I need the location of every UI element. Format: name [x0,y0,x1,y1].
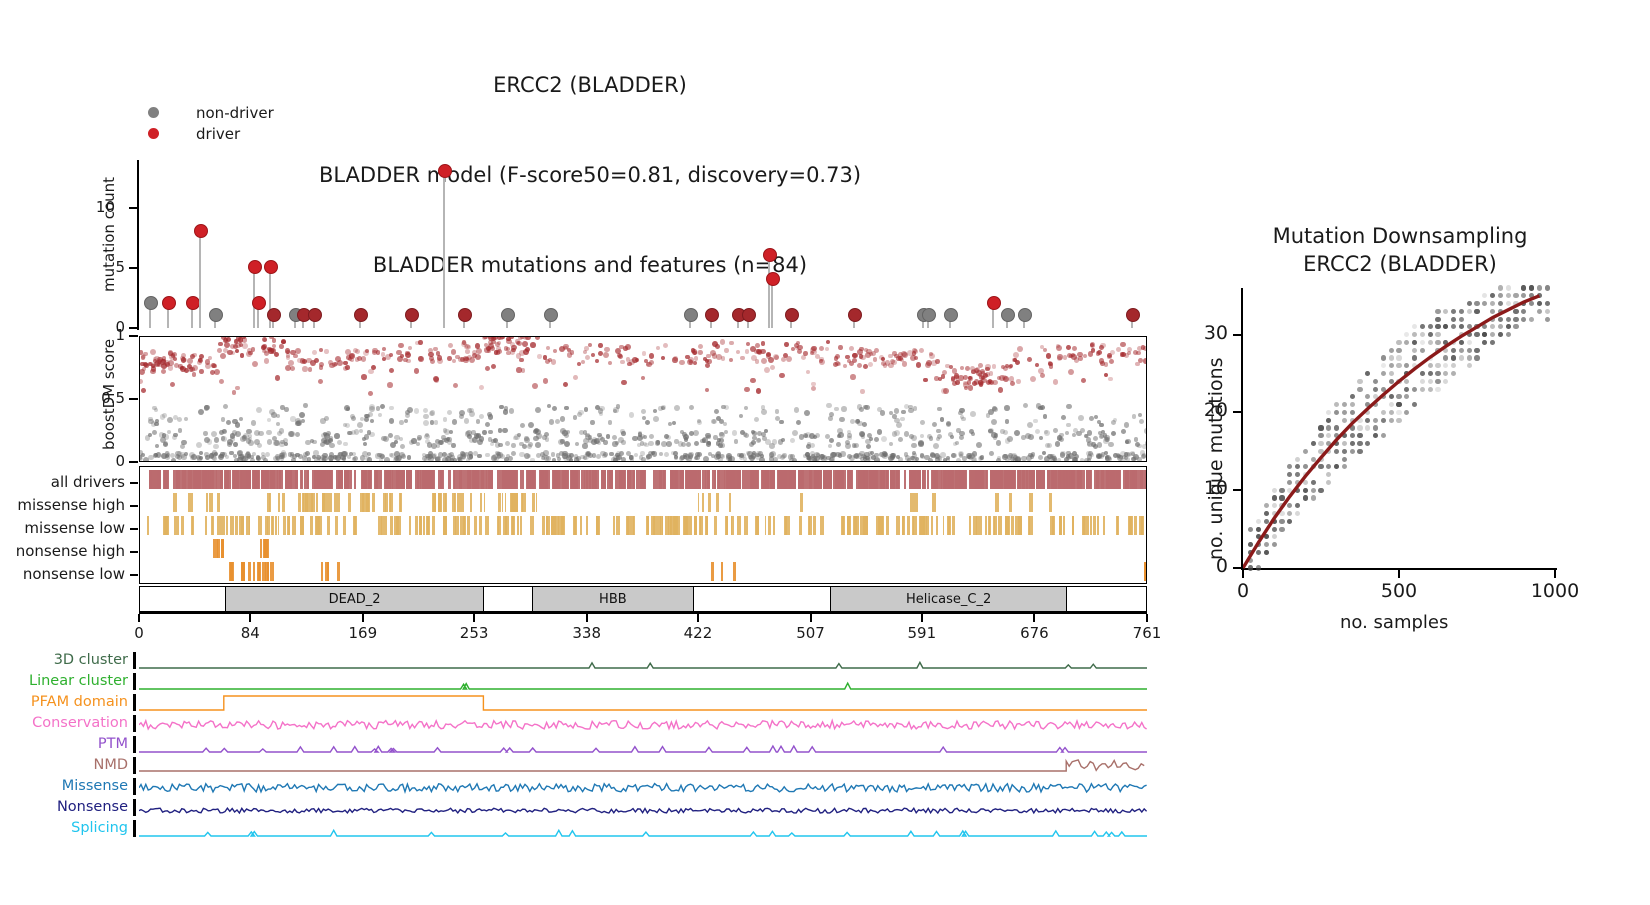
track-mark [840,470,842,489]
score-point [1021,456,1026,461]
track-mark [419,516,421,535]
score-point [364,434,369,439]
score-point [880,410,885,415]
track-mark [866,470,869,489]
track-mark [976,470,978,489]
track-mark [321,562,323,581]
score-point [1124,422,1129,427]
score-point [208,356,212,360]
track-mark [732,470,735,489]
score-point [852,353,858,359]
track-mark [1000,470,1005,489]
score-point [488,430,493,435]
score-point [1100,343,1106,349]
track-mark [378,470,382,489]
track-mark [551,516,555,535]
track-mark [153,470,158,489]
x-tick-mark [362,614,364,622]
track-mark [474,516,477,535]
track-mark [773,516,775,535]
track-mark [820,516,824,535]
score-point [918,441,923,446]
track-mark [675,470,677,489]
score-point [574,457,580,462]
track-mark [1096,470,1098,489]
score-point [1093,444,1098,449]
legend-label: driver [196,125,240,143]
score-point [1042,451,1046,455]
score-point [666,435,671,440]
score-point [894,430,900,436]
score-point [258,431,263,436]
track-mark [473,470,478,489]
score-point [469,357,475,363]
track-mark [336,470,340,489]
score-point [1090,343,1094,347]
x-tick-mark [249,614,251,622]
score-point [361,374,366,379]
score-point [644,443,649,448]
score-point [280,440,284,444]
score-point [705,363,710,368]
score-point [745,349,749,353]
feature-track-line [139,830,1147,836]
feature-track-row [139,650,1147,671]
score-point [192,372,197,377]
track-mark [571,470,574,489]
score-point [502,428,507,433]
score-point [941,374,945,378]
score-point [1023,403,1029,409]
needle-marker [264,260,278,274]
score-point [551,359,557,365]
score-point [178,428,182,432]
track-mark [392,470,397,489]
track-mark [343,516,346,535]
needle-marker [354,308,368,322]
score-point [762,436,767,441]
score-point [934,376,939,381]
score-point [874,457,880,462]
score-point [909,434,914,439]
feature-track-row [139,818,1147,839]
score-point [1009,364,1013,368]
score-point [324,416,329,421]
track-mark [714,516,716,535]
score-point [728,457,732,461]
needle-plot [139,160,1147,328]
pfam-domain-box: DEAD_2 [225,587,485,611]
track-tick-mark [130,482,138,484]
track-mark [267,539,269,558]
track-mark [1059,516,1062,535]
feature-track-label: Linear cluster [0,673,128,689]
score-point [1087,454,1093,460]
score-point [659,452,664,457]
score-point [720,443,724,447]
score-point [1038,406,1042,410]
score-point [714,409,719,414]
track-mark [742,470,746,489]
needle-marker [144,296,158,310]
score-point [451,349,456,354]
track-mark [415,516,418,535]
score-point [652,451,657,456]
score-point [508,456,513,461]
track-mark [262,562,266,581]
score-point [525,347,530,352]
score-point [860,457,864,461]
score-point [430,359,435,364]
score-point [1035,363,1039,367]
score-point [408,346,412,350]
score-point [459,414,464,419]
score-point [901,351,907,357]
score-point [920,420,925,425]
score-point [267,418,271,422]
score-point [641,409,646,414]
score-point [857,363,862,368]
score-point [894,408,900,414]
score-point [985,367,990,372]
track-mark [630,516,634,535]
score-point [575,442,579,446]
needle-marker [742,308,756,322]
score-point [150,349,156,355]
downsampling-y-tick-label: 0 [1180,555,1228,577]
track-mark [1106,470,1110,489]
score-point [850,374,855,379]
score-point [416,442,420,446]
track-mark [454,470,457,489]
score-point [424,457,429,462]
feature-track-tick [133,799,136,816]
score-point [996,440,1001,445]
score-point [685,355,690,360]
score-point [207,439,213,445]
track-mark [1145,562,1147,581]
score-point [591,353,595,357]
score-point [430,420,434,424]
feature-track-line [139,696,1147,710]
score-point [862,422,867,427]
track-mark [253,562,255,581]
x-tick-label: 169 [338,624,388,642]
track-mark [756,516,759,535]
track-mark [1103,516,1105,535]
score-point [889,442,893,446]
score-point [865,352,871,358]
needle-marker [248,260,262,274]
track-mark [926,516,929,535]
track-mark [726,516,728,535]
feature-track-row [139,797,1147,818]
score-point [1096,351,1101,356]
needle-stem [199,232,201,328]
pfam-domain-box: Helicase_C_2 [830,587,1067,611]
score-point [295,348,301,354]
score-point [820,454,825,459]
downsampling-x-tick-mark [1242,570,1244,578]
score-point [165,362,170,367]
score-point [908,405,912,409]
score-point [755,343,760,348]
score-point [841,406,846,411]
score-point [357,422,363,428]
score-point [932,422,937,427]
score-point [772,439,777,444]
track-mark [702,493,704,512]
track-mark [372,493,375,512]
track-mark [173,493,177,512]
score-point [396,350,402,356]
score-point [537,354,542,359]
score-point [448,343,453,348]
score-point [847,433,851,437]
track-mark [565,470,568,489]
track-mark [263,470,268,489]
score-point [443,417,448,422]
track-mark [191,516,193,535]
track-mark [194,470,198,489]
track-mark [223,516,225,535]
score-point [393,457,398,462]
track-mark [278,516,280,535]
y-tick-label: 1 [78,326,125,344]
track-mark [721,562,723,581]
score-point [528,422,534,428]
feature-track-row [139,734,1147,755]
feature-track-line [139,760,1144,771]
track-mark [768,516,772,535]
score-point [190,455,194,459]
score-point [279,428,285,434]
track-mark [1134,516,1137,535]
track-mark [1011,516,1014,535]
score-point [634,453,638,457]
score-point [692,349,697,354]
score-point [998,387,1004,393]
x-tick-label: 676 [1009,624,1059,642]
score-point [582,443,588,449]
track-mark [700,516,703,535]
score-point [1025,433,1031,439]
score-point [349,354,353,358]
score-point [756,388,762,394]
score-point [1078,415,1084,421]
score-point [719,432,725,438]
score-point [434,377,439,382]
track-mark [980,516,982,535]
track-mark [708,493,712,512]
track-mark [522,493,525,512]
track-mark [270,470,275,489]
downsampling-x-tick-mark [1398,570,1400,578]
track-mark [580,516,582,535]
score-point [807,442,811,446]
track-mark [532,493,535,512]
score-point [485,453,490,458]
track-mark [665,516,668,535]
track-mark [618,470,621,489]
score-point [498,443,503,448]
track-mark [362,470,367,489]
needle-marker [785,308,799,322]
score-point [829,412,834,417]
score-point [1011,453,1016,458]
score-point [606,434,610,438]
downsampling-x-tick-mark [1554,570,1556,578]
track-mark [267,516,270,535]
track-mark [687,470,690,489]
score-point [149,362,153,366]
score-point [599,412,603,416]
track-mark [267,493,270,512]
score-point [485,366,490,371]
score-point [900,417,905,422]
track-mark [264,539,267,558]
track-mark [323,493,326,512]
score-point [794,407,800,413]
track-mark [998,516,1001,535]
track-mark [520,516,523,535]
track-mark [319,470,321,489]
track-mark [335,516,338,535]
track-mark [562,470,564,489]
score-point [697,420,702,425]
score-point [405,413,410,418]
score-point [449,430,453,434]
score-point [929,436,933,440]
score-point [1035,429,1040,434]
score-point [635,358,639,362]
score-point [871,351,876,356]
score-point [381,436,386,441]
track-mark [448,470,451,489]
track-mark [694,516,697,535]
score-point [1108,377,1112,381]
track-mark [444,516,447,535]
track-mark [854,516,856,535]
pfam-domain-label: Helicase_C_2 [906,592,991,607]
score-point [967,455,971,459]
score-point [804,410,810,416]
track-mark [693,470,696,489]
track-mark [272,516,274,535]
needle-marker [705,308,719,322]
score-point [1015,360,1020,365]
score-point [1061,415,1066,420]
track-mark [907,516,911,535]
score-point [672,421,676,425]
downsampling-x-tick-label: 1000 [1515,580,1595,602]
score-point [378,413,382,417]
feature-track-label: Missense [0,778,128,794]
track-mark [1072,516,1074,535]
score-point [417,437,421,441]
score-point [649,434,654,439]
score-point [608,420,612,424]
score-point [205,363,211,369]
score-point [1046,353,1051,358]
track-mark [1021,516,1023,535]
score-point [1124,353,1129,358]
y-tick-mark [129,461,138,463]
downsampling-y-tick-mark [1233,567,1241,569]
y-tick-label: 10 [93,198,115,216]
score-point [394,451,400,457]
downsampling-y-axis-label: no. unique mutations [1205,357,1227,560]
score-point [706,354,710,358]
downsampling-y-tick-mark [1233,334,1241,336]
downsampling-title-line-1: Mutation Downsampling [1190,222,1610,250]
downsampling-y-tick-label: 20 [1180,399,1228,421]
track-mark [904,470,907,489]
track-mark [799,470,803,489]
score-point [400,444,405,449]
needle-marker [252,296,266,310]
score-point [284,407,288,411]
track-mark [1102,470,1104,489]
track-mark [304,470,309,489]
feature-track-tick [133,757,136,774]
score-point [262,337,267,342]
track-mark [737,516,740,535]
score-point [170,382,175,387]
score-point [674,405,680,411]
track-mark [621,470,625,489]
score-point [150,369,156,375]
track-mark [943,516,945,535]
score-point [1047,443,1052,448]
needle-marker [405,308,419,322]
score-point [1005,457,1010,462]
score-point [437,355,442,360]
pfam-domain-label: DEAD_2 [329,592,381,607]
score-point [803,433,808,438]
downsampling-y-tick-label: 30 [1180,322,1228,344]
driver-track-row [140,516,1146,535]
x-tick-label: 253 [449,624,499,642]
track-mark [315,516,318,535]
score-point [705,388,709,392]
score-point [761,341,765,345]
score-point [585,355,590,360]
score-point [813,458,817,462]
track-mark [440,470,444,489]
needle-marker [209,308,223,322]
score-point [148,433,152,437]
score-point [1098,453,1103,458]
score-point [615,348,621,354]
score-point [1057,356,1062,361]
score-point [286,355,291,360]
score-point [1049,364,1053,368]
track-mark [856,470,860,489]
track-mark [1130,470,1133,489]
track-mark [714,470,716,489]
track-mark [601,470,606,489]
score-point [242,337,247,342]
score-point [645,420,650,425]
feature-track-label: Conservation [0,715,128,731]
track-mark [209,493,213,512]
score-point [221,436,227,442]
score-point [609,452,613,456]
score-point [442,457,448,462]
score-point [439,440,444,445]
feature-track-tick [133,820,136,837]
